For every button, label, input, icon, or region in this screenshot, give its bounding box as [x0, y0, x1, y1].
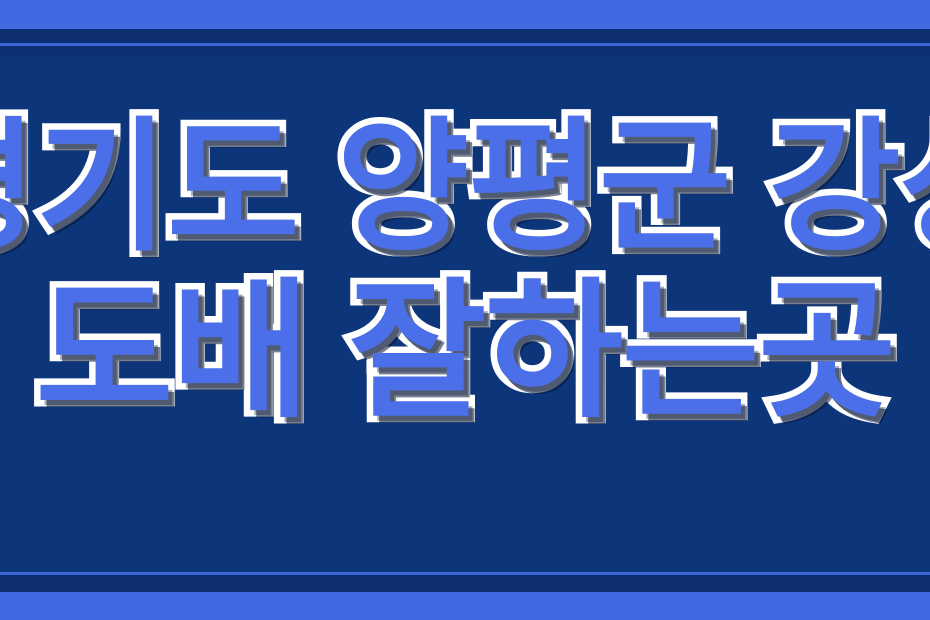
headline-block: 경기도 양평군 강상면 도배 잘하는곳	[0, 0, 930, 620]
banner-canvas: 경기도 양평군 강상면 도배 잘하는곳	[0, 0, 930, 620]
headline-line-2: 도배 잘하는곳	[35, 276, 894, 426]
headline-line-1: 경기도 양평군 강상면	[0, 116, 930, 260]
